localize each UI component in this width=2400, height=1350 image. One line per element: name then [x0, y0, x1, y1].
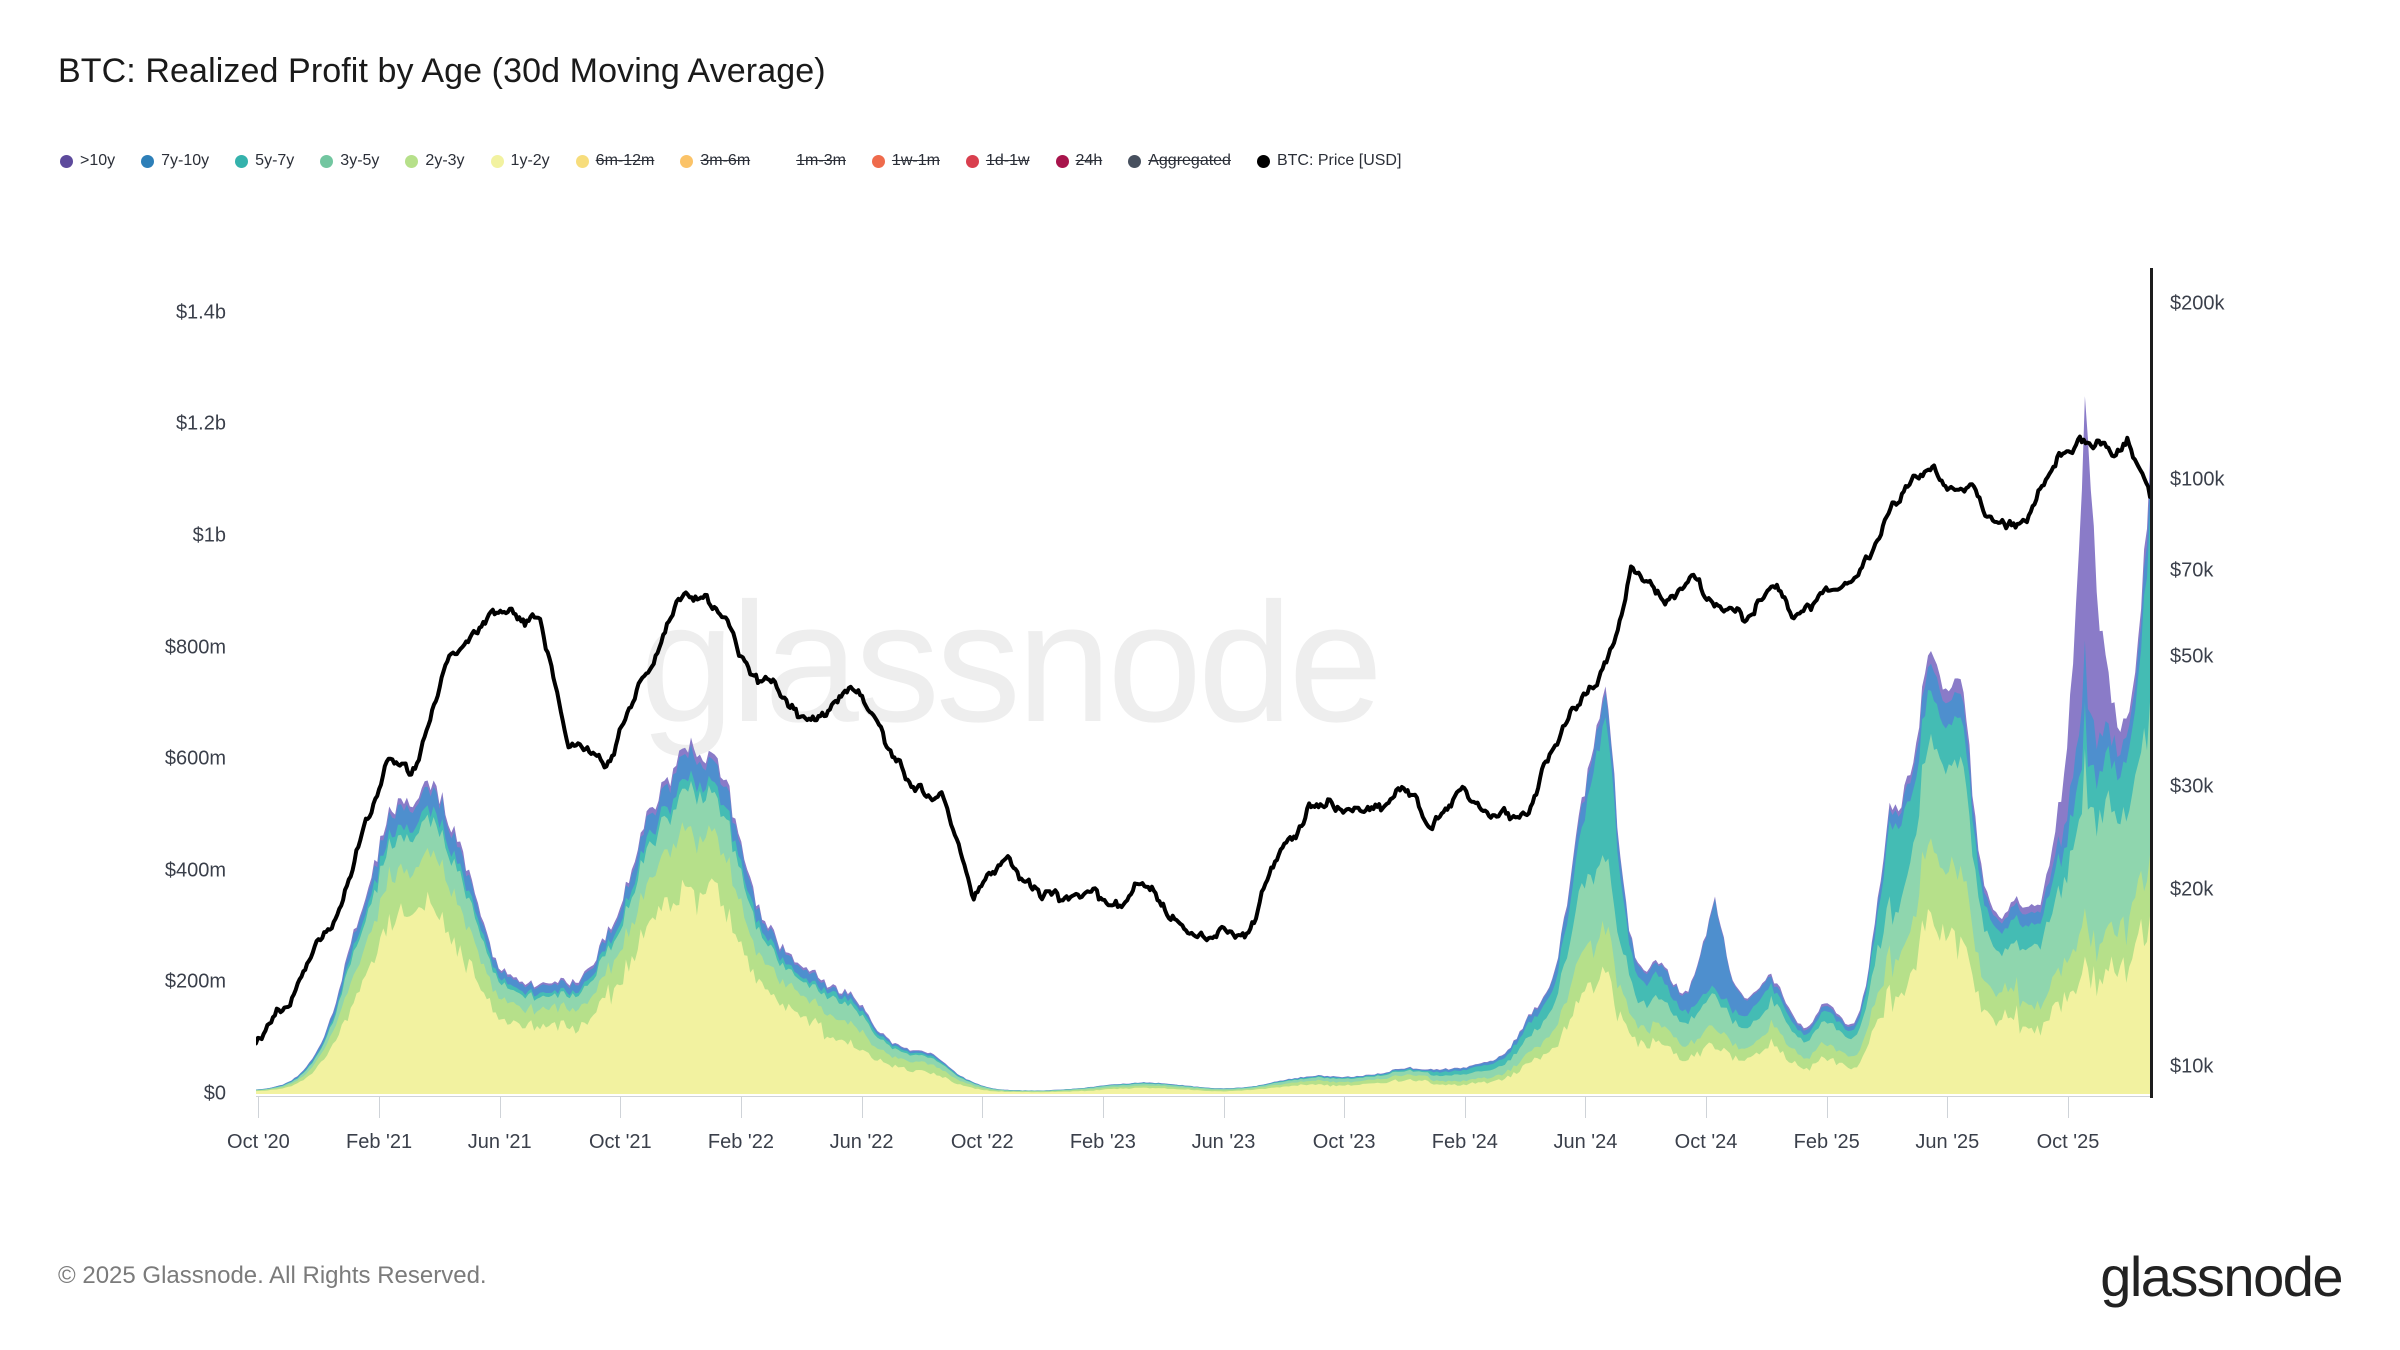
- x-axis-tick-mark: [1103, 1096, 1104, 1118]
- x-axis-tick: Jun '25: [1915, 1131, 1979, 1154]
- x-axis-tick-mark: [1585, 1096, 1586, 1118]
- copyright-text: © 2025 Glassnode. All Rights Reserved.: [58, 1262, 487, 1290]
- x-axis-tick: Feb '22: [708, 1131, 774, 1154]
- x-axis-tick-mark: [500, 1096, 501, 1118]
- x-axis-tick: Oct '20: [227, 1131, 290, 1154]
- x-axis-tick: Jun '24: [1553, 1131, 1617, 1154]
- x-axis-tick-mark: [982, 1096, 983, 1118]
- x-axis-tick-mark: [2068, 1096, 2069, 1118]
- x-axis-tick-mark: [1827, 1096, 1828, 1118]
- x-axis-tick-mark: [379, 1096, 380, 1118]
- x-axis-tick-mark: [862, 1096, 863, 1118]
- x-axis-tick-mark: [1465, 1096, 1466, 1118]
- x-axis-tick: Jun '22: [830, 1131, 894, 1154]
- x-axis-tick-mark: [1706, 1096, 1707, 1118]
- x-axis-tick: Jun '21: [468, 1131, 532, 1154]
- x-axis-tick: Feb '21: [346, 1131, 412, 1154]
- x-axis-tick: Feb '23: [1070, 1131, 1136, 1154]
- x-axis-tick: Oct '22: [951, 1131, 1014, 1154]
- x-axis-tick-mark: [741, 1096, 742, 1118]
- x-date-axis: Oct '20Feb '21Jun '21Oct '21Feb '22Jun '…: [0, 0, 2400, 1350]
- x-axis-tick: Oct '25: [2037, 1131, 2100, 1154]
- x-axis-tick-mark: [1224, 1096, 1225, 1118]
- x-axis-tick-mark: [258, 1096, 259, 1118]
- glassnode-logo: glassnode: [2100, 1244, 2342, 1309]
- x-axis-tick: Oct '24: [1675, 1131, 1738, 1154]
- x-axis-tick: Feb '24: [1432, 1131, 1498, 1154]
- x-axis-tick-mark: [620, 1096, 621, 1118]
- x-axis-tick: Feb '25: [1794, 1131, 1860, 1154]
- x-axis-tick: Oct '21: [589, 1131, 652, 1154]
- x-axis-tick: Oct '23: [1313, 1131, 1376, 1154]
- x-axis-tick: Jun '23: [1192, 1131, 1256, 1154]
- x-axis-tick-mark: [1344, 1096, 1345, 1118]
- chart-page: BTC: Realized Profit by Age (30d Moving …: [0, 0, 2400, 1350]
- x-axis-tick-mark: [1947, 1096, 1948, 1118]
